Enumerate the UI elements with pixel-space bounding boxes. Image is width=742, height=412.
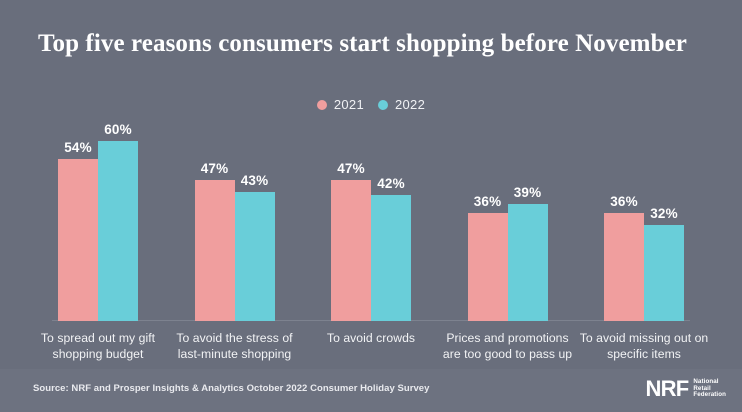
x-label-line: last-minute shopping [167,346,303,362]
bar-value-label: 47% [337,161,365,176]
bar-value-label: 36% [610,194,638,209]
nrf-tagline: National Retail Federation [693,379,726,400]
source-note: Source: NRF and Prosper Insights & Analy… [33,383,429,394]
x-label-line: Prices and promotions [440,330,576,346]
bar-value-label: 47% [201,161,229,176]
bar-column-2021-4[interactable]: 36% [468,125,508,321]
x-axis-labels: To spread out my gift shopping budget To… [30,330,712,363]
bar-group-2: 47% 43% [167,125,303,321]
legend-label-2022: 2022 [395,97,425,112]
legend-swatch-2021 [317,100,327,110]
bar-column-2022-3[interactable]: 42% [371,125,411,321]
bar-column-2022-5[interactable]: 32% [644,125,684,321]
nrf-tagline-line-3: Federation [693,392,726,399]
bar-value-label: 54% [64,140,92,155]
x-label-5: To avoid missing out on specific items [576,330,712,363]
bar-value-label: 36% [474,194,502,209]
x-label-line: To avoid crowds [303,330,439,346]
x-label-3: To avoid crowds [303,330,439,363]
bar-2022[interactable] [371,195,411,321]
bar-column-2021-3[interactable]: 47% [331,125,371,321]
nrf-logo: NRF National Retail Federation [646,378,726,400]
bar-column-2022-4[interactable]: 39% [508,125,548,321]
x-label-line: To spread out my gift [30,330,166,346]
bar-column-2021-1[interactable]: 54% [58,125,98,321]
bar-2021[interactable] [604,213,644,321]
bar-2022[interactable] [644,225,684,321]
x-label-line: shopping budget [30,346,166,362]
nrf-wordmark: NRF [646,378,689,400]
bar-2021[interactable] [195,180,235,321]
bar-group-1: 54% 60% [30,125,166,321]
legend-swatch-2022 [378,100,388,110]
bar-2022[interactable] [235,192,275,321]
bar-value-label: 42% [377,176,405,191]
footer-bar: Source: NRF and Prosper Insights & Analy… [0,369,742,412]
bar-value-label: 43% [241,173,269,188]
bar-column-2022-1[interactable]: 60% [98,125,138,321]
bar-column-2022-2[interactable]: 43% [235,125,275,321]
x-label-2: To avoid the stress of last-minute shopp… [167,330,303,363]
bar-2021[interactable] [468,213,508,321]
infographic-root: Top five reasons consumers start shoppin… [0,0,742,412]
legend-item-2021[interactable]: 2021 [317,97,364,112]
page-title: Top five reasons consumers start shoppin… [38,28,708,59]
bar-group-4: 36% 39% [440,125,576,321]
bar-2021[interactable] [58,159,98,321]
bar-group-3: 47% 42% [303,125,439,321]
bar-column-2021-2[interactable]: 47% [195,125,235,321]
bar-value-label: 60% [104,122,132,137]
bar-group-5: 36% 32% [576,125,712,321]
x-label-line: To avoid the stress of [167,330,303,346]
chart-legend: 2021 2022 [0,97,742,112]
bar-2022[interactable] [508,204,548,321]
x-label-line: To avoid missing out on [576,330,712,346]
x-label-line: are too good to pass up [440,346,576,362]
legend-label-2021: 2021 [334,97,364,112]
x-label-4: Prices and promotions are too good to pa… [440,330,576,363]
x-label-line: specific items [576,346,712,362]
bar-2022[interactable] [98,141,138,321]
bar-value-label: 39% [514,185,542,200]
legend-item-2022[interactable]: 2022 [378,97,425,112]
bar-groups: 54% 60% 47% 43% 47% 42% [30,125,712,321]
x-label-1: To spread out my gift shopping budget [30,330,166,363]
bar-column-2021-5[interactable]: 36% [604,125,644,321]
bar-value-label: 32% [650,206,678,221]
bar-2021[interactable] [331,180,371,321]
